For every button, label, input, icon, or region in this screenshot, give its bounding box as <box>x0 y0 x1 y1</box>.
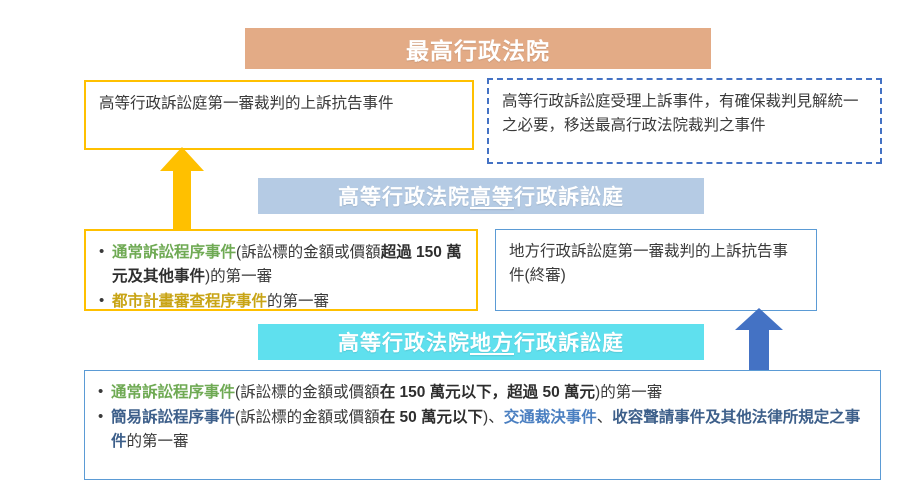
bullet-highlight: 簡易訴訟程序事件 <box>111 409 235 426</box>
bullet-text-post: )的第一審 <box>205 268 272 285</box>
bullet-text-pre: (訴訟標的金額或價額 <box>235 409 380 426</box>
banner-local-division-prefix: 高等行政法院 <box>338 327 470 357</box>
list-item: 簡易訴訟程序事件(訴訟標的金額或價額在 50 萬元以下)、交通裁決事件、收容聲請… <box>98 406 867 454</box>
banner-local-division-underlined: 地方 <box>470 327 514 357</box>
bullet-text-bold: 在 150 萬元以下，超過 50 萬元 <box>380 384 595 401</box>
banner-high-division-underlined: 高等 <box>470 181 514 211</box>
banner-high-division-suffix: 行政訴訟庭 <box>514 181 624 211</box>
box-final-instance-text: 地方行政訴訟庭第一審裁判的上訴抗告事件(終審) <box>509 243 788 284</box>
banner-high-division-prefix: 高等行政法院 <box>338 181 470 211</box>
high-division-bullet-list: 通常訴訟程序事件(訴訟標的金額或價額超過 150 萬元及其他事件)的第一審 都市… <box>99 241 463 314</box>
bullet-highlight-blue-a: 交通裁決事件 <box>504 409 597 426</box>
bullet-text-post: 的第一審 <box>267 293 329 310</box>
bullet-text-seg-a: )、 <box>483 409 504 426</box>
list-item: 都市計畫審查程序事件的第一審 <box>99 290 463 314</box>
box-final-instance-cases: 地方行政訴訟庭第一審裁判的上訴抗告事件(終審) <box>495 229 817 311</box>
box-transfer-cases-text: 高等行政訴訟庭受理上訴事件，有確保裁判見解統一之必要，移送最高行政法院裁判之事件 <box>502 93 859 134</box>
diagram-canvas: 最高行政法院 高等行政訴訟庭第一審裁判的上訴抗告事件 高等行政訴訟庭受理上訴事件… <box>0 0 908 504</box>
list-item: 通常訴訟程序事件(訴訟標的金額或價額超過 150 萬元及其他事件)的第一審 <box>99 241 463 289</box>
bullet-text-post: 的第一審 <box>127 433 189 450</box>
banner-high-division: 高等行政法院高等行政訴訟庭 <box>258 178 704 214</box>
list-item: 通常訴訟程序事件(訴訟標的金額或價額在 150 萬元以下，超過 50 萬元)的第… <box>98 381 867 405</box>
local-division-bullet-list: 通常訴訟程序事件(訴訟標的金額或價額在 150 萬元以下，超過 50 萬元)的第… <box>98 381 867 454</box>
box-appeal-cases: 高等行政訴訟庭第一審裁判的上訴抗告事件 <box>84 80 474 150</box>
bullet-highlight: 通常訴訟程序事件 <box>111 384 235 401</box>
gold-up-arrow <box>160 147 204 231</box>
box-appeal-cases-text: 高等行政訴訟庭第一審裁判的上訴抗告事件 <box>99 95 394 112</box>
box-high-division-cases: 通常訴訟程序事件(訴訟標的金額或價額超過 150 萬元及其他事件)的第一審 都市… <box>84 229 478 311</box>
bullet-text-post: )的第一審 <box>595 384 662 401</box>
box-local-division-cases: 通常訴訟程序事件(訴訟標的金額或價額在 150 萬元以下，超過 50 萬元)的第… <box>84 370 881 480</box>
banner-local-division-suffix: 行政訴訟庭 <box>514 327 624 357</box>
bullet-text-seg-b: 、 <box>597 409 613 426</box>
bullet-highlight: 通常訴訟程序事件 <box>112 244 236 261</box>
blue-up-arrow <box>735 308 783 370</box>
banner-supreme-court-label: 最高行政法院 <box>406 32 550 66</box>
bullet-text-bold: 在 50 萬元以下 <box>380 409 483 426</box>
banner-supreme-court: 最高行政法院 <box>245 28 711 69</box>
bullet-highlight: 都市計畫審查程序事件 <box>112 293 267 310</box>
bullet-text-pre: (訴訟標的金額或價額 <box>235 384 380 401</box>
box-transfer-cases: 高等行政訴訟庭受理上訴事件，有確保裁判見解統一之必要，移送最高行政法院裁判之事件 <box>487 78 882 164</box>
banner-local-division: 高等行政法院地方行政訴訟庭 <box>258 324 704 360</box>
bullet-text-pre: (訴訟標的金額或價額 <box>236 244 381 261</box>
